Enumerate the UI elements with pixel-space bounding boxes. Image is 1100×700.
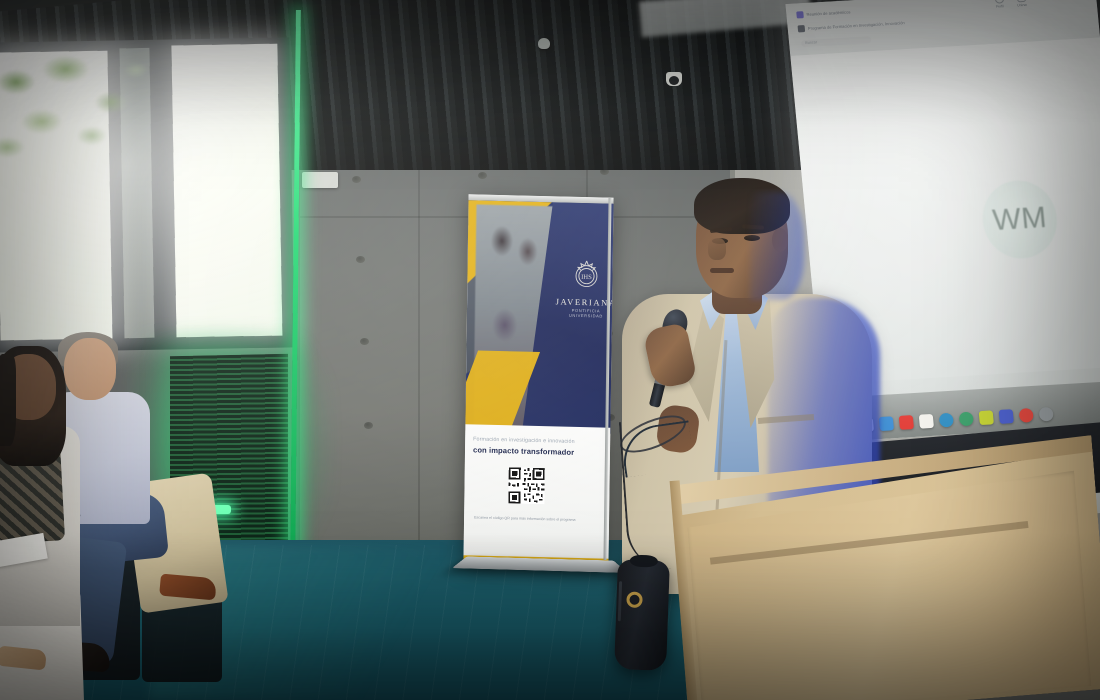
profile-icon xyxy=(994,0,1004,4)
browser-icon[interactable] xyxy=(959,412,974,427)
avatar-initials: WM xyxy=(991,201,1048,238)
banner-tagline-2: con impacto transformador xyxy=(473,445,601,457)
tab-title: Programa de Formación en Investigación, … xyxy=(808,20,905,31)
banner-footer-note: Escanea el código QR para más informació… xyxy=(474,514,598,524)
equipment-bag xyxy=(614,559,670,671)
toolbar-label: Perfil xyxy=(995,4,1004,9)
banner-tagline-1: Formación en investigación e innovación xyxy=(473,436,601,445)
bag-ring-detail xyxy=(626,591,643,608)
qr-code-icon xyxy=(508,467,544,504)
ceiling-sensor-icon xyxy=(538,38,550,49)
banner-artwork: IHS JAVERIANA PONTIFICIA UNIVERSIDAD xyxy=(465,200,613,434)
address-bar-placeholder: Buscar xyxy=(805,40,817,45)
tab-title: Reunión de académicos xyxy=(806,9,850,17)
edge-icon[interactable] xyxy=(939,413,954,428)
rollup-banner: IHS JAVERIANA PONTIFICIA UNIVERSIDAD For… xyxy=(463,194,613,568)
tab-favicon-icon xyxy=(798,25,806,32)
svg-text:IHS: IHS xyxy=(581,274,592,281)
banner-text-panel: Formación en investigación e innovación … xyxy=(463,424,610,568)
notes-icon[interactable] xyxy=(919,414,934,429)
wooden-podium xyxy=(663,435,1100,700)
teams-icon[interactable] xyxy=(999,409,1014,424)
spreadsheet-icon[interactable] xyxy=(979,410,994,425)
exterior-window xyxy=(0,37,295,352)
dome-camera-icon xyxy=(666,72,682,86)
avatar: WM xyxy=(979,178,1060,260)
wall-projector-icon xyxy=(302,172,338,188)
settings-icon[interactable] xyxy=(1039,407,1054,422)
toolbar-item-share[interactable]: Unirse xyxy=(1016,0,1027,7)
tab-favicon-icon xyxy=(796,11,804,18)
toolbar-item-profile[interactable]: Perfil xyxy=(994,0,1004,9)
conference-photo: IHS JAVERIANA PONTIFICIA UNIVERSIDAD For… xyxy=(0,0,1100,700)
audience-group xyxy=(0,330,250,700)
chrome-icon[interactable] xyxy=(1019,408,1034,423)
acrobat-icon[interactable] xyxy=(899,415,914,430)
toolbar-label: Unirse xyxy=(1017,3,1027,8)
